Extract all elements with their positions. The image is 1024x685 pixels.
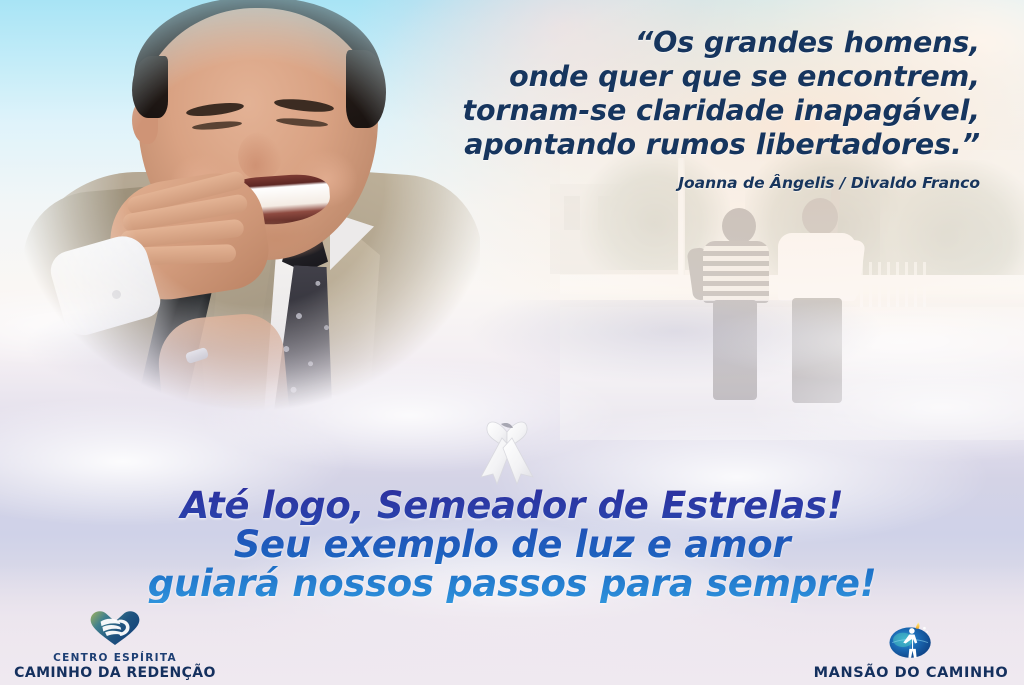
quote-line-1: “Os grandes homens,	[350, 26, 980, 60]
quote-attribution: Joanna de Ângelis / Divaldo Franco	[350, 174, 980, 192]
headline-line-2: Seu exemplo de luz e amor	[0, 525, 1024, 564]
quote-line-4: apontando rumos libertadores.”	[350, 128, 980, 162]
quote-line-2: onde quer que se encontrem,	[350, 60, 980, 94]
hand-gripping-microphone	[155, 311, 291, 442]
logo-mansao-do-caminho: MANSÃO DO CAMINHO	[804, 618, 1018, 681]
headline-line-1: Até logo, Semeador de Estrelas!	[0, 486, 1024, 525]
mourning-ribbon-icon	[478, 408, 536, 486]
logo-centro-espirita-caminho-da-redencao: CENTRO ESPÍRITA CAMINHO DA REDENÇÃO	[2, 607, 228, 681]
quote-line-3: tornam-se claridade inapagável,	[350, 94, 980, 128]
tribute-poster: “Os grandes homens, onde quer que se enc…	[0, 0, 1024, 685]
logo-left-line-2: CAMINHO DA REDENÇÃO	[2, 665, 228, 681]
headline-line-3: guiará nossos passos para sempre!	[0, 564, 1024, 603]
heart-hands-icon	[2, 607, 228, 651]
quote-block: “Os grandes homens, onde quer que se enc…	[350, 26, 980, 192]
globe-torch-figure-icon	[804, 618, 1018, 664]
headline-block: Até logo, Semeador de Estrelas! Seu exem…	[0, 486, 1024, 603]
logo-right-line-2: MANSÃO DO CAMINHO	[804, 665, 1018, 681]
logo-left-line-1: CENTRO ESPÍRITA	[2, 652, 228, 664]
